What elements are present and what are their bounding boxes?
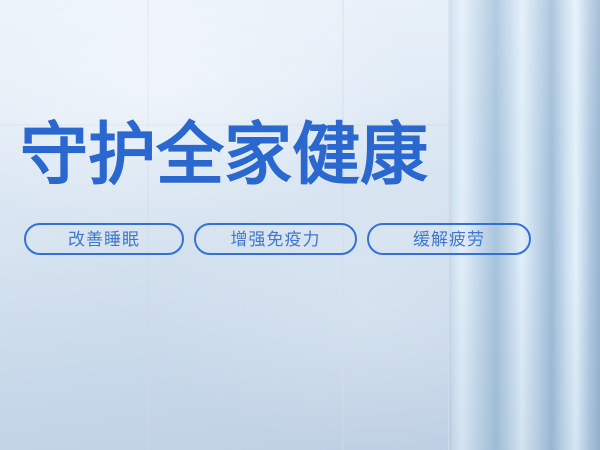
benefit-tag-improve-sleep[interactable]: 改善睡眠 [24, 223, 184, 255]
benefit-tag-label: 改善睡眠 [68, 231, 140, 248]
benefit-tag-list: 改善睡眠 增强免疫力 缓解疲劳 [24, 223, 531, 255]
health-promo-banner: 守护全家健康 改善睡眠 增强免疫力 缓解疲劳 [0, 0, 600, 450]
benefit-tag-label: 缓解疲劳 [413, 231, 485, 248]
benefit-tag-boost-immunity[interactable]: 增强免疫力 [194, 223, 357, 255]
benefit-tag-label: 增强免疫力 [231, 231, 321, 248]
benefit-tag-relieve-fatigue[interactable]: 缓解疲劳 [367, 223, 531, 255]
headline-text: 守护全家健康 [20, 119, 428, 191]
